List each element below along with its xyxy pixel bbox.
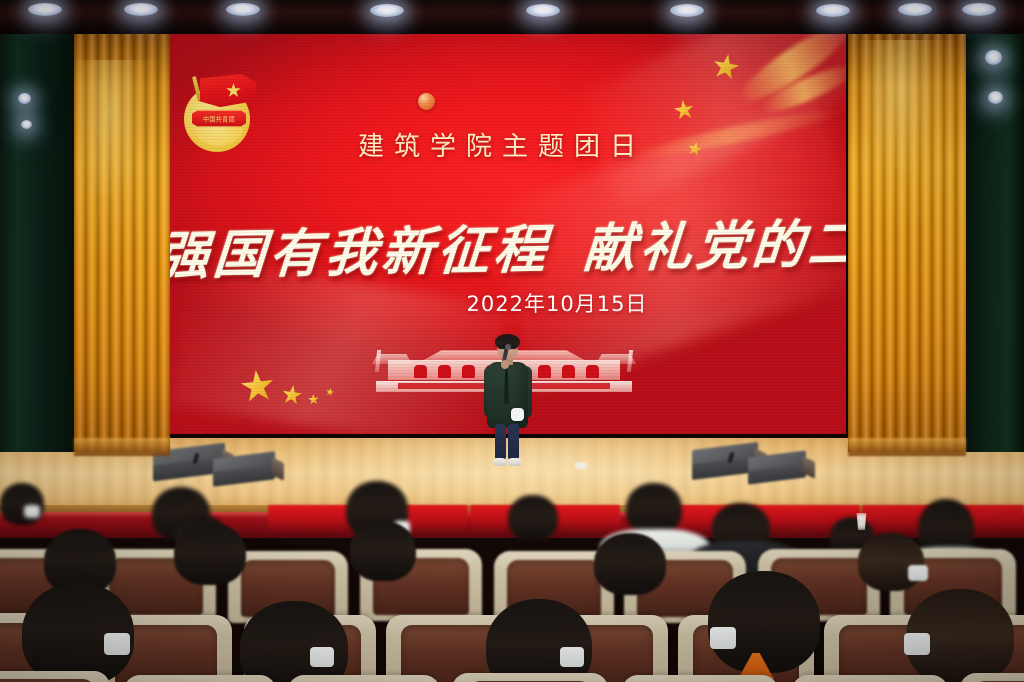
screen-date-row: 2022年10月15日 (158, 288, 846, 318)
side-light-right-2 (988, 91, 1003, 104)
side-light-left-1 (18, 93, 31, 104)
seat-r4-2 (124, 675, 276, 682)
audience-mask-front-5 (904, 633, 930, 655)
decor-orange-bauble (418, 93, 435, 110)
stage-light-3 (226, 3, 260, 16)
audience-mask-front-4 (710, 627, 736, 649)
audience-head-back-8 (508, 495, 558, 541)
seat-r4-4 (452, 673, 608, 682)
stage-monitor-left-outer (213, 455, 275, 483)
stage-light-9 (962, 3, 996, 16)
screen-headline-left: 强国有我新征程 (158, 219, 552, 287)
stage-light-5 (526, 4, 560, 17)
emblem-flag-star-icon (226, 83, 241, 98)
headline-gap (549, 267, 583, 268)
audience-head-front-4 (708, 571, 820, 673)
stage-light-8 (898, 3, 932, 16)
speaker-leg-right (508, 424, 519, 460)
side-light-right-1 (985, 50, 1002, 65)
curtain-hem-right (848, 438, 966, 456)
stage-light-6 (670, 4, 704, 17)
speaker-shoe-right (508, 458, 522, 466)
audience-head-mid-2 (174, 523, 246, 585)
stage-monitor-right-outer (748, 454, 806, 481)
speaker-hand (501, 360, 509, 369)
gold-ribbon-2 (758, 59, 846, 120)
curtain-hem-left (74, 438, 170, 456)
decor-star-tr-1 (711, 52, 741, 82)
seat-r4-5 (622, 675, 778, 682)
screen-light-swoosh-3 (567, 30, 846, 210)
stage-light-2 (124, 3, 158, 16)
screen-date: 2022年10月15日 (467, 292, 648, 316)
seat-r4-6 (792, 675, 948, 682)
paper-on-stage-floor (575, 462, 587, 469)
audience-head-front-3 (486, 599, 592, 682)
audience-head-back-1 (0, 483, 44, 525)
gold-ribbon-1 (733, 30, 846, 112)
audience-head-mid-3 (350, 521, 416, 581)
speaker-shoe-left (493, 458, 507, 466)
screen-subtitle: 建筑学院主题团日 (158, 126, 846, 163)
audience-head-front-2 (240, 601, 348, 682)
speaker-leg-left (495, 424, 506, 460)
audience-mask-front-2 (310, 647, 334, 667)
tiananmen-arch-6 (538, 365, 551, 378)
seat-r4-3 (288, 675, 440, 682)
audience-mask-mid-5 (908, 565, 928, 581)
gold-curtain-right (848, 16, 966, 452)
speaker-on-stage (480, 336, 534, 468)
emblem-banner-text: 中国共青团 (203, 114, 235, 124)
audience-head-mid-5 (858, 533, 924, 591)
decor-star-bl-1 (239, 368, 275, 404)
tiananmen-arch-3 (462, 365, 475, 378)
side-light-left-2 (21, 120, 32, 129)
audience-mask-front-3 (560, 647, 584, 667)
decor-star-bl-2 (281, 384, 304, 407)
dark-wing-curtain-right (962, 0, 1024, 452)
screen-headline: 强国有我新征程献礼党的二十大 (158, 202, 846, 289)
microphone-head-icon (505, 344, 511, 350)
auditorium-photo: 中国共青团 建筑学院主题团日 强国有我新征程献礼党的二十大 (0, 0, 1024, 682)
audience-mask-back-1 (24, 505, 40, 518)
decor-star-tr-2 (673, 99, 696, 122)
audience-mask-front-1 (104, 633, 130, 655)
tiananmen-arch-7 (562, 365, 575, 378)
tiananmen-arch-2 (438, 365, 451, 378)
gold-curtain-left (74, 16, 170, 452)
decor-star-bl-3 (308, 394, 320, 406)
emblem-banner: 中国共青团 (192, 110, 246, 127)
stage-light-1 (28, 3, 62, 16)
face-mask-in-hand (511, 408, 524, 421)
stage-light-4 (370, 4, 404, 17)
seat-r4-1 (0, 671, 110, 682)
tiananmen-arch-1 (414, 365, 427, 378)
tiananmen-arch-8 (586, 365, 599, 378)
screen-headline-right: 献礼党的二十大 (582, 212, 846, 280)
seat-r4-7 (960, 673, 1024, 682)
audience-head-mid-4 (594, 533, 666, 595)
decor-star-bl-4 (325, 387, 334, 396)
audience-head-back-5 (626, 483, 682, 535)
stage-light-7 (816, 4, 850, 17)
audience-area (0, 505, 1024, 682)
dark-wing-curtain-left (0, 0, 78, 452)
